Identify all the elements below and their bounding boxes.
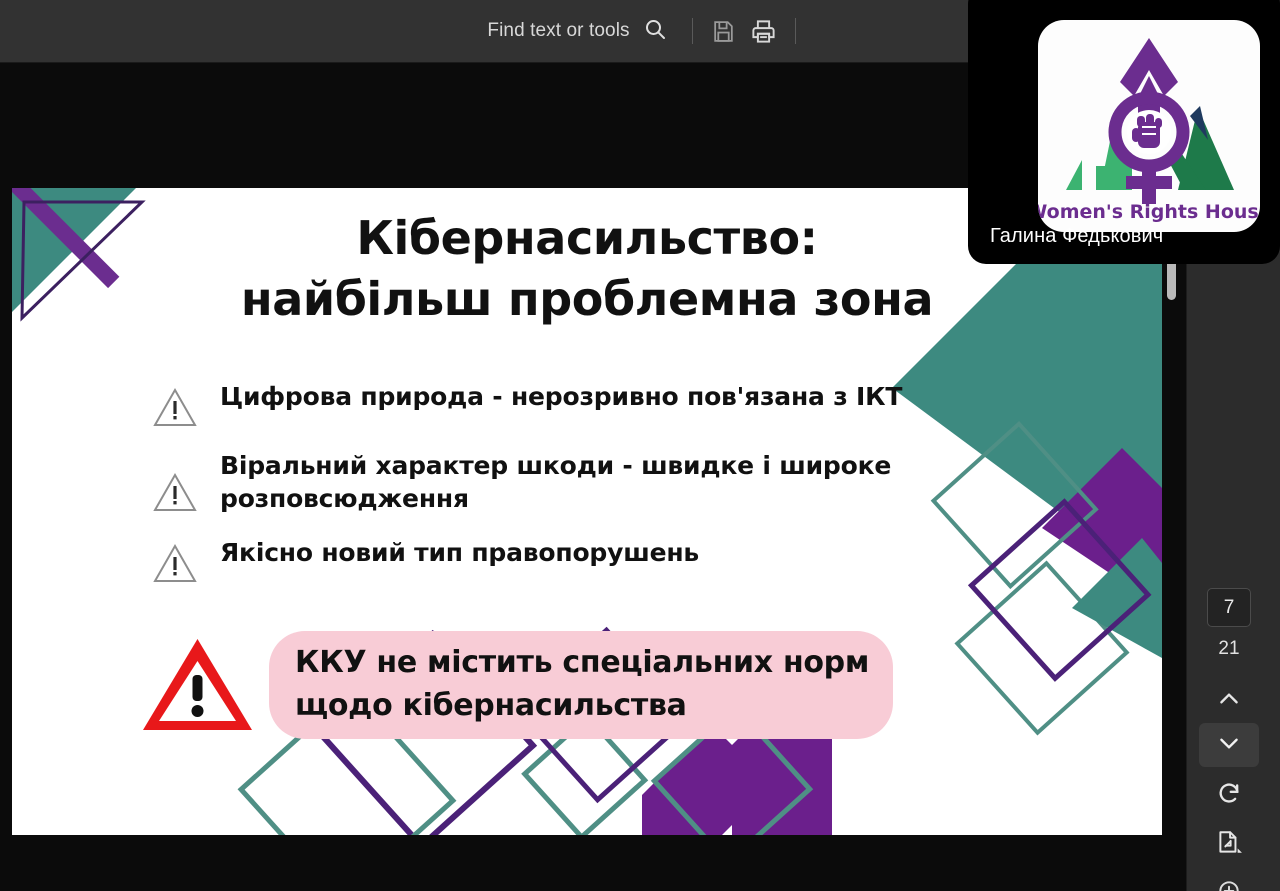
total-pages-label: 21 xyxy=(1187,638,1271,660)
zoom-in-icon xyxy=(1216,878,1242,891)
participant-name-label: Галина Федькович xyxy=(980,221,1173,252)
toolbar-center-group: Find text or tools xyxy=(473,11,806,51)
list-item: Цифрова природа - нерозривно пов'язана з… xyxy=(152,380,932,428)
pdf-viewer-app: Find text or tools xyxy=(0,0,1280,891)
warning-triangle-icon xyxy=(152,386,198,428)
zoom-in-button[interactable] xyxy=(1199,871,1259,891)
previous-page-button[interactable] xyxy=(1199,679,1259,723)
warning-triangle-icon xyxy=(152,471,198,513)
print-icon xyxy=(750,18,777,45)
find-text-or-tools-input[interactable]: Find text or tools xyxy=(473,17,680,46)
toolbar-separator-2 xyxy=(795,18,796,44)
fit-page-button[interactable] xyxy=(1199,823,1259,867)
print-button[interactable] xyxy=(744,11,784,51)
list-item-label: Віральний характер шкоди - швидке і широ… xyxy=(220,449,932,515)
alert-highlight-pill: ККУ не містить спеціальних норм щодо кіб… xyxy=(269,631,893,739)
list-item: Якісно новий тип правопорушень xyxy=(152,536,932,584)
next-page-button[interactable] xyxy=(1199,723,1259,767)
current-page-input[interactable]: 7 xyxy=(1207,588,1251,627)
alert-callout: ККУ не містить спеціальних норм щодо кіб… xyxy=(140,631,893,739)
list-item: Віральний характер шкоди - швидке і широ… xyxy=(152,449,932,515)
rotate-clockwise-icon xyxy=(1215,779,1243,812)
logo-text: Women's Rights House xyxy=(1038,201,1260,223)
slide-page: Кібернасильство: найбільш проблемна зона… xyxy=(12,188,1162,835)
participant-video-tile[interactable]: Women's Rights House Галина Федькович xyxy=(968,0,1280,264)
womens-rights-house-logo: Women's Rights House xyxy=(1038,20,1260,232)
slide-bullet-list: Цифрова природа - нерозривно пов'язана з… xyxy=(152,380,932,605)
save-floppy-icon xyxy=(711,19,736,44)
warning-triangle-icon xyxy=(152,542,198,584)
vertical-scroll-thumb[interactable] xyxy=(1167,258,1176,300)
find-placeholder-label: Find text or tools xyxy=(487,20,629,42)
avatar: Women's Rights House xyxy=(1038,20,1260,232)
alert-text: ККУ не містить спеціальних норм щодо кіб… xyxy=(295,641,869,727)
slide-title-line2: найбільш проблемна зона xyxy=(12,269,1162,330)
search-icon[interactable] xyxy=(643,17,667,46)
red-warning-triangle-icon xyxy=(140,635,255,735)
save-button[interactable] xyxy=(704,11,744,51)
rotate-page-button[interactable] xyxy=(1199,773,1259,817)
list-item-label: Цифрова природа - нерозривно пов'язана з… xyxy=(220,380,902,413)
chevron-down-icon xyxy=(1216,730,1242,761)
fit-page-icon xyxy=(1215,829,1243,862)
chevron-up-icon xyxy=(1216,686,1242,717)
toolbar-separator xyxy=(692,18,693,44)
list-item-label: Якісно новий тип правопорушень xyxy=(220,536,699,569)
